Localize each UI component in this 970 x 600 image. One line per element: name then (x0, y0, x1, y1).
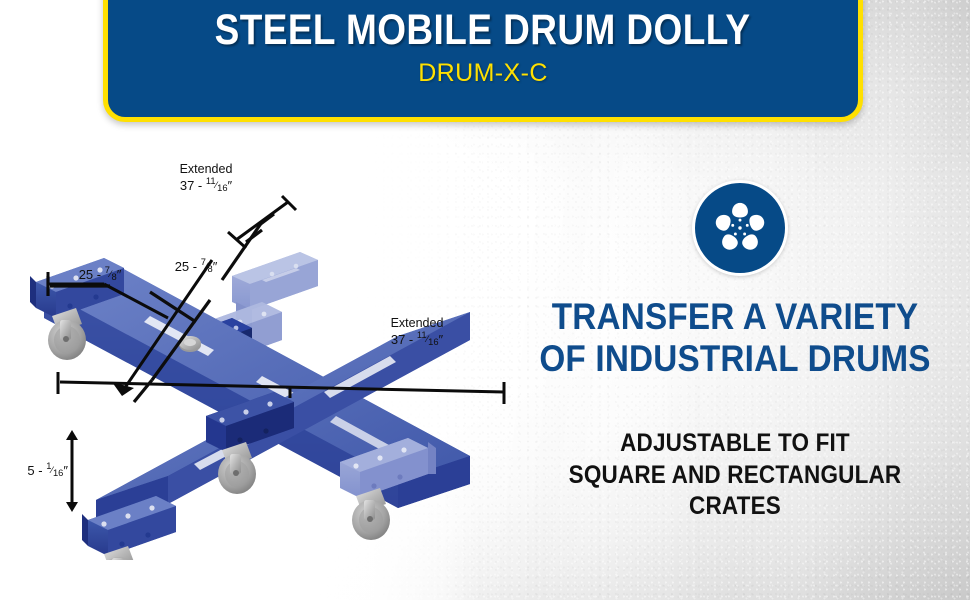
feature-headline-line-2: OF INDUSTRIAL DRUMS (524, 338, 947, 380)
wheel-rim-glyph (707, 195, 773, 261)
dim-unit-extended-right: ″ (439, 332, 444, 347)
feature-subheadline-line-1: ADJUSTABLE TO FIT (524, 428, 947, 460)
dim-whole-height: 5 (27, 463, 34, 478)
header-banner: STEEL MOBILE DRUM DOLLY DRUM-X-C (103, 0, 863, 122)
product-illustration: Extended 37 - 11⁄16″ 25 - 7⁄8″ 25 - 7⁄8″… (0, 140, 520, 560)
feature-subheadline-line-2: SQUARE AND RECTANGULAR CRATES (524, 460, 947, 523)
dim-prefix-extended-right: Extended (391, 316, 444, 330)
dim-num-extended-right: 11 (417, 330, 427, 340)
dim-unit-width-left: ″ (117, 267, 122, 282)
dim-unit-height: ″ (63, 463, 68, 478)
dimension-label-width-center: 25 - 7⁄8″ (148, 258, 244, 275)
dim-num-width-left: 7 (105, 265, 110, 275)
dim-unit-width-center: ″ (213, 259, 218, 274)
product-infographic: STEEL MOBILE DRUM DOLLY DRUM-X-C (0, 0, 970, 600)
dim-prefix-extended-upper: Extended (180, 162, 233, 176)
dim-den-height: 16 (53, 468, 63, 478)
model-number: DRUM-X-C (418, 59, 548, 88)
dim-whole-width-left: 25 (79, 267, 93, 282)
dim-whole-extended-right: 37 (391, 332, 405, 347)
dim-whole-width-center: 25 (175, 259, 189, 274)
dimension-label-extended-right: Extended 37 - 11⁄16″ (352, 316, 482, 347)
dimension-label-height: 5 - 1⁄16″ (0, 462, 68, 479)
page-title: STEEL MOBILE DRUM DOLLY (215, 8, 751, 53)
feature-subheadline: ADJUSTABLE TO FIT SQUARE AND RECTANGULAR… (500, 428, 970, 523)
dim-den-extended-upper: 16 (217, 183, 227, 193)
dim-unit-extended-upper: ″ (228, 178, 233, 193)
drum-dolly-drawing (0, 140, 520, 560)
dim-num-width-center: 7 (201, 257, 206, 267)
feature-headline: TRANSFER A VARIETY OF INDUSTRIAL DRUMS (500, 296, 970, 380)
feature-headline-line-1: TRANSFER A VARIETY (524, 296, 947, 338)
dimension-label-extended-upper: Extended 37 - 11⁄16″ (146, 162, 266, 193)
dim-whole-extended-upper: 37 (180, 178, 194, 193)
dim-den-extended-right: 16 (428, 337, 438, 347)
wheel-rim-icon (692, 180, 788, 276)
dim-num-height: 1 (46, 461, 51, 471)
dim-num-extended-upper: 11 (206, 176, 216, 186)
dimension-label-width-left: 25 - 7⁄8″ (52, 266, 148, 283)
